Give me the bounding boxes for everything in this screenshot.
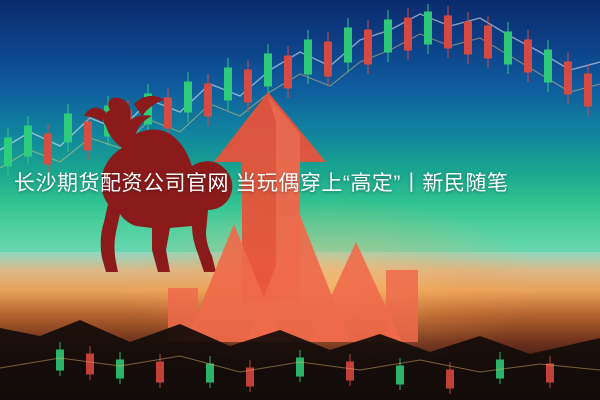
foreground-hills (0, 280, 600, 400)
image-caption: 长沙期货配资公司官网 当玩偶穿上“高定”丨新民随笔 (0, 166, 600, 202)
image-canvas: 长沙期货配资公司官网 当玩偶穿上“高定”丨新民随笔 (0, 0, 600, 400)
